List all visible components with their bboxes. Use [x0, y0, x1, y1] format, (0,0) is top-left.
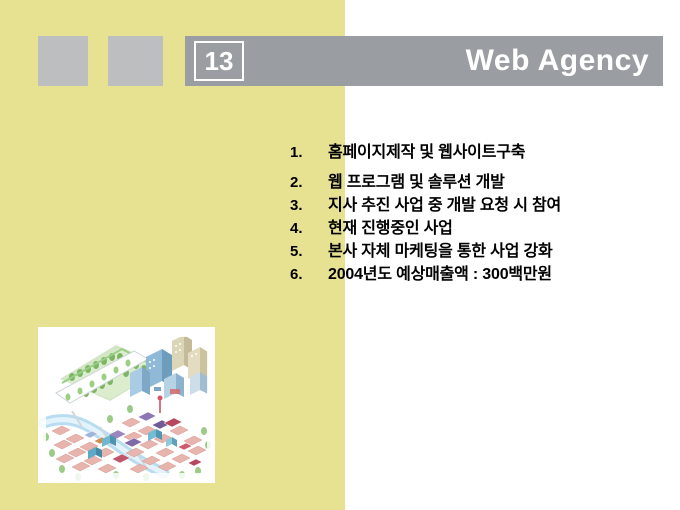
list-item: 1. 홈페이지제작 및 웹사이트구축 — [290, 141, 670, 164]
list-item-number: 6. — [290, 263, 328, 286]
page-title: Web Agency — [466, 44, 649, 78]
list-item-number: 1. — [290, 141, 328, 164]
list-item-number: 4. — [290, 217, 328, 240]
bullet-list: 1. 홈페이지제작 및 웹사이트구축 2. 웹 프로그램 및 솔루션 개발 3.… — [290, 141, 670, 286]
list-item: 6. 2004년도 예상매출액 : 300백만원 — [290, 263, 670, 286]
city-landscape-illustration — [38, 327, 215, 483]
list-item: 3. 지사 추진 사업 중 개발 요청 시 참여 — [290, 194, 670, 217]
list-item-label: 본사 자체 마케팅을 통한 사업 강화 — [328, 240, 553, 263]
list-item: 2. 웹 프로그램 및 솔루션 개발 — [290, 171, 670, 194]
list-item-label: 홈페이지제작 및 웹사이트구축 — [328, 141, 525, 164]
presentation-slide: 13 Web Agency 1. 홈페이지제작 및 웹사이트구축 2. 웹 프로… — [0, 0, 680, 510]
decorative-square-1 — [38, 36, 88, 86]
list-item: 5. 본사 자체 마케팅을 통한 사업 강화 — [290, 240, 670, 263]
list-item: 4. 현재 진행중인 사업 — [290, 217, 670, 240]
list-item-number: 5. — [290, 240, 328, 263]
slide-header-bar: 13 Web Agency — [185, 36, 663, 86]
list-item-label: 지사 추진 사업 중 개발 요청 시 참여 — [328, 194, 561, 217]
slide-number-text: 13 — [205, 48, 234, 74]
list-item-label: 현재 진행중인 사업 — [328, 217, 453, 240]
slide-number-badge: 13 — [194, 41, 244, 81]
list-item-number: 3. — [290, 194, 328, 217]
list-item-label: 웹 프로그램 및 솔루션 개발 — [328, 171, 505, 194]
decorative-square-2 — [108, 36, 163, 86]
list-item-label: 2004년도 예상매출액 : 300백만원 — [328, 263, 552, 286]
list-item-number: 2. — [290, 171, 328, 194]
